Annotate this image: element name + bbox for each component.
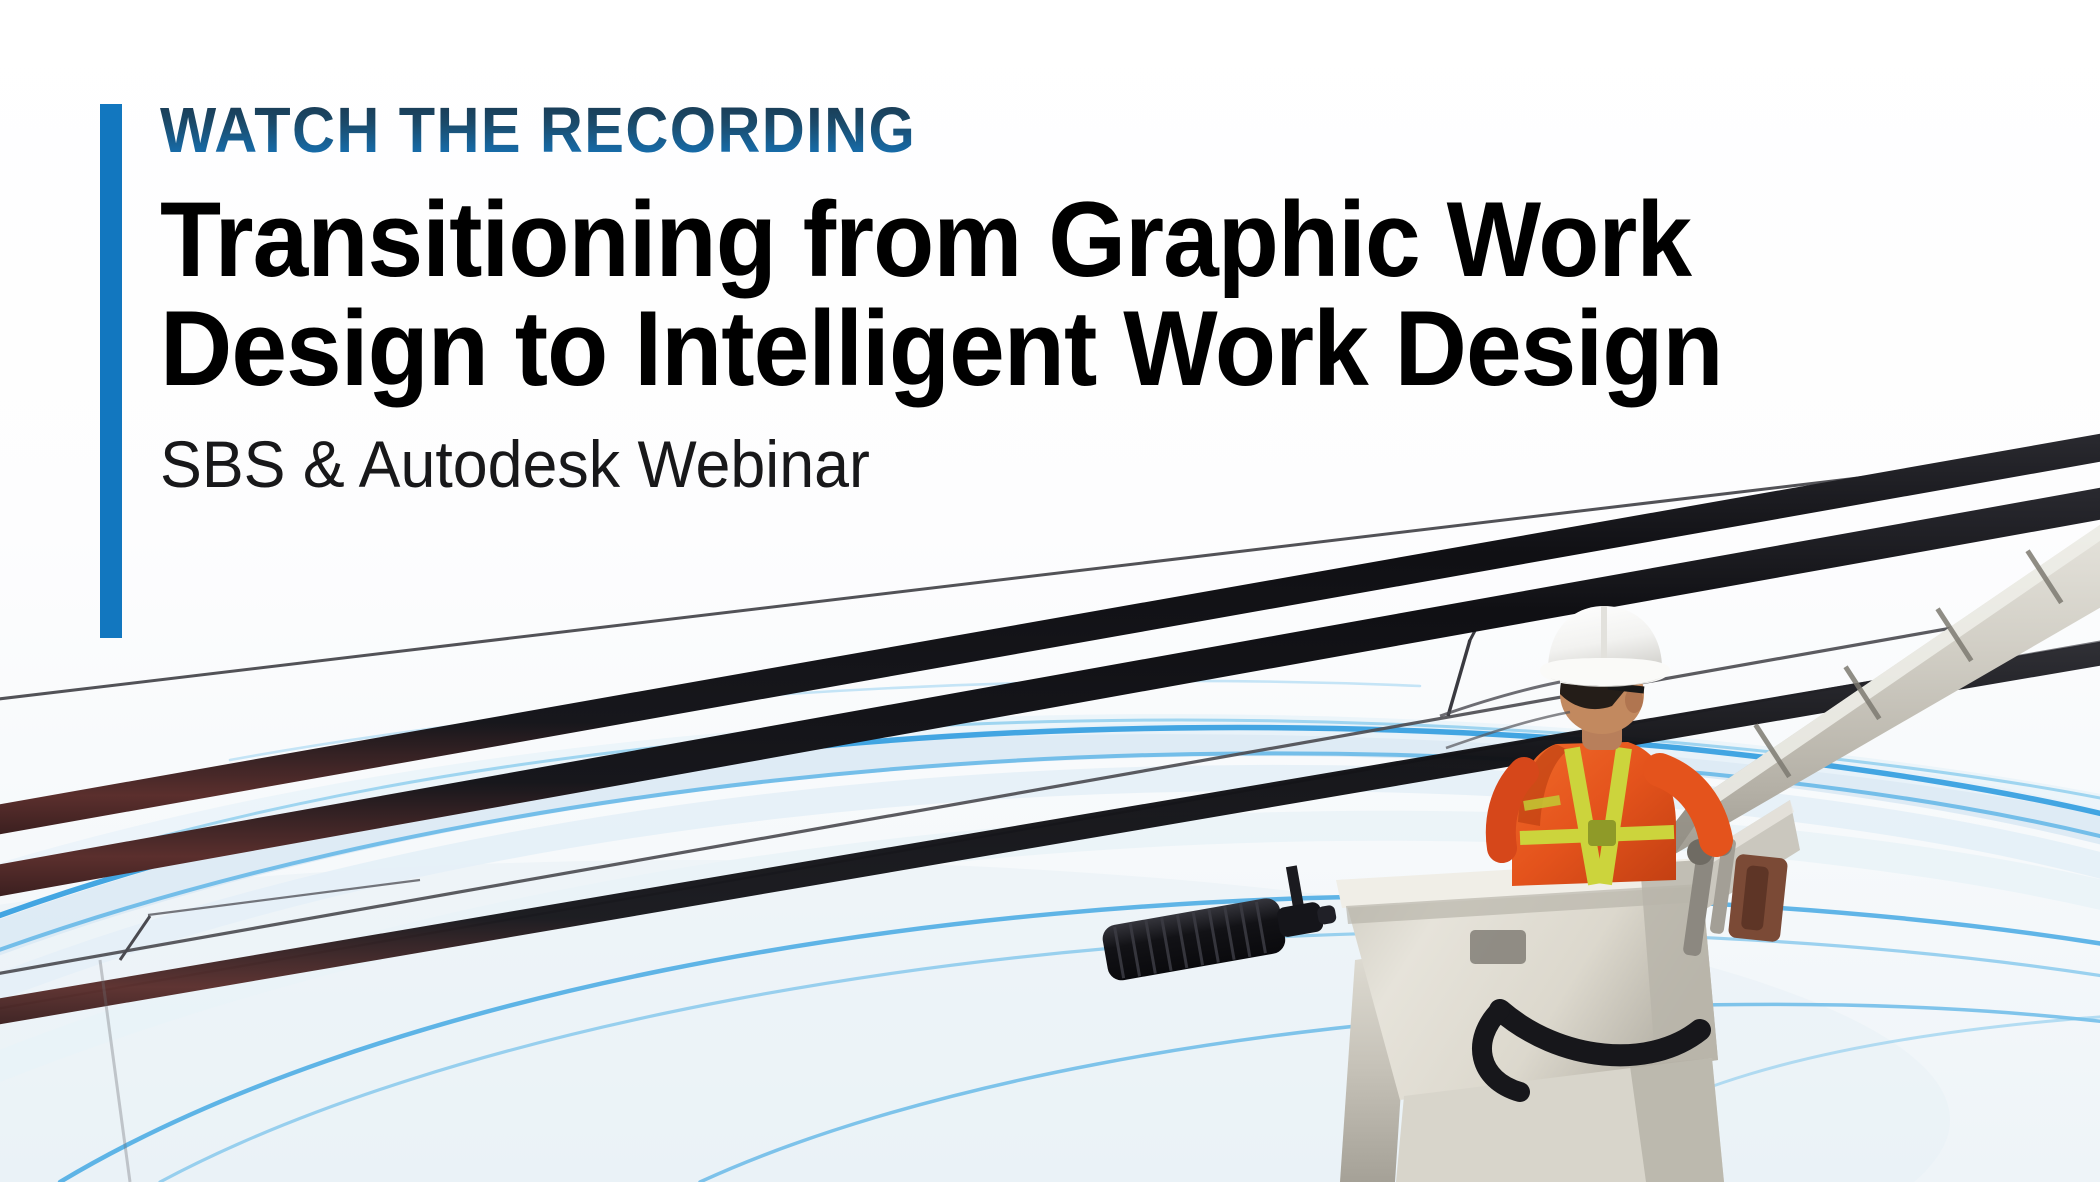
- webinar-promo-banner: WATCH THE RECORDING Transitioning from G…: [0, 0, 2100, 1182]
- hero-photo-svg: [0, 0, 2100, 1182]
- hero-photo: [0, 0, 2100, 1182]
